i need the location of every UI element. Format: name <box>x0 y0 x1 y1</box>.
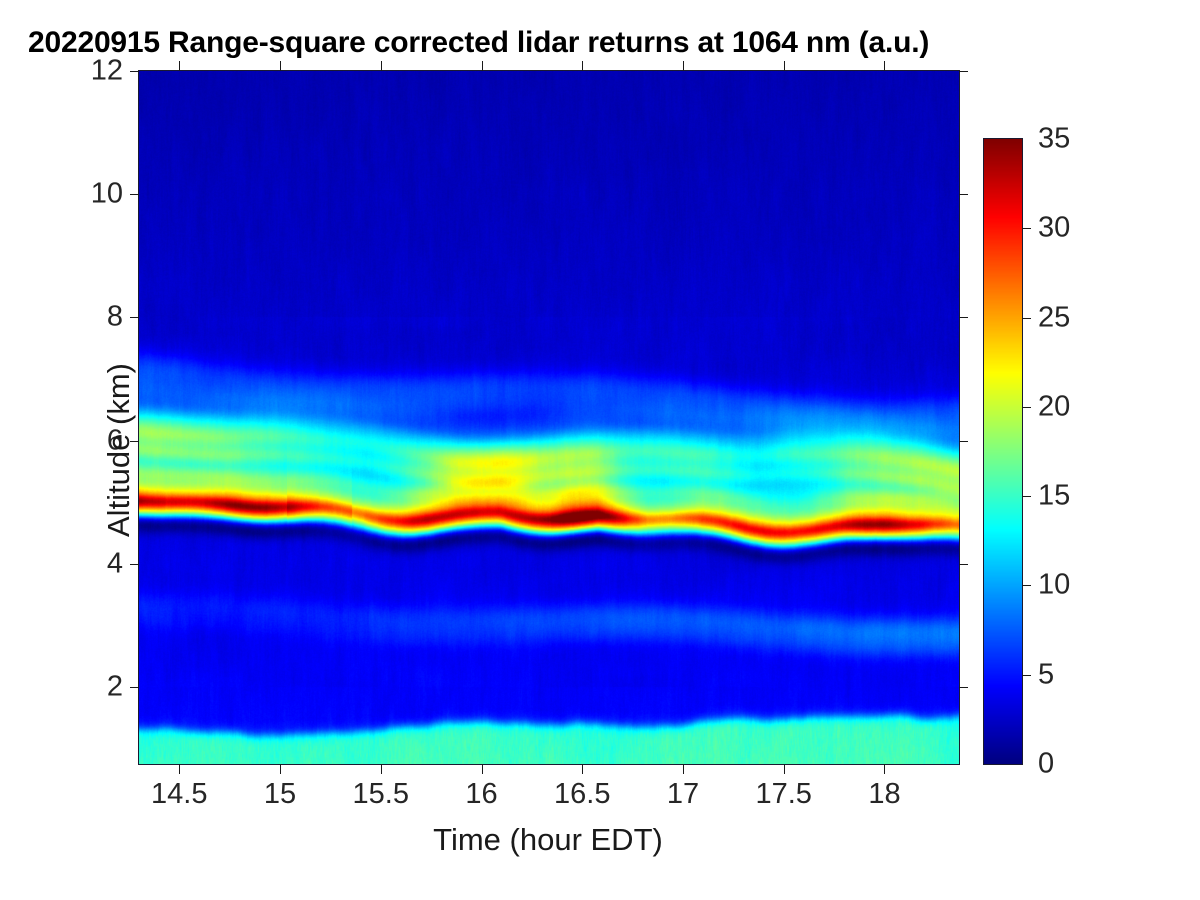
lidar-quicklook-figure: 20220915 Range-square corrected lidar re… <box>0 0 1200 900</box>
y-axis-label: Altitude (km) <box>101 363 137 537</box>
colorbar-gradient <box>984 139 1022 764</box>
x-axis-tick-mark-top <box>582 61 583 71</box>
x-axis-tick-mark-top <box>784 61 785 71</box>
colorbar-tick-label: 10 <box>1038 569 1070 602</box>
x-axis-tick-mark <box>179 764 180 774</box>
x-axis-tick-label: 17.5 <box>755 778 811 811</box>
colorbar-tick-mark <box>1022 318 1031 319</box>
y-axis-tick-label: 4 <box>107 547 123 580</box>
y-axis-tick-label: 2 <box>107 671 123 704</box>
colorbar-tick-mark <box>1022 496 1031 497</box>
page-title: 20220915 Range-square corrected lidar re… <box>28 26 929 60</box>
x-axis-tick-label: 16.5 <box>554 778 610 811</box>
x-axis-tick-mark-top <box>482 61 483 71</box>
y-axis-tick-mark <box>130 194 139 195</box>
y-axis-tick-label: 8 <box>107 301 123 334</box>
colorbar-tick-mark <box>1022 675 1031 676</box>
y-axis-tick-mark-right <box>959 317 968 318</box>
y-axis-tick-mark-right <box>959 564 968 565</box>
x-axis-tick-mark <box>683 764 684 774</box>
x-axis-tick-label: 18 <box>868 778 900 811</box>
y-axis-tick-label: 10 <box>91 178 123 211</box>
colorbar-tick-label: 0 <box>1038 748 1054 781</box>
colorbar-tick-label: 35 <box>1038 123 1070 156</box>
colorbar-tick-mark <box>1022 407 1031 408</box>
colorbar-tick-label: 15 <box>1038 480 1070 513</box>
lidar-heatmap-canvas <box>139 71 959 764</box>
x-axis-tick-mark <box>784 764 785 774</box>
colorbar-tick-label: 25 <box>1038 301 1070 334</box>
x-axis-label: Time (hour EDT) <box>138 822 958 858</box>
x-axis-tick-mark <box>582 764 583 774</box>
y-axis-tick-mark-right <box>959 71 968 72</box>
x-axis-tick-mark-top <box>280 61 281 71</box>
colorbar-tick-label: 20 <box>1038 390 1070 423</box>
y-axis-tick-mark <box>130 564 139 565</box>
x-axis-tick-label: 16 <box>465 778 497 811</box>
x-axis-tick-label: 17 <box>667 778 699 811</box>
y-axis-tick-mark <box>130 317 139 318</box>
x-axis-tick-mark-top <box>179 61 180 71</box>
y-axis-tick-mark-right <box>959 687 968 688</box>
x-axis-tick-mark <box>884 764 885 774</box>
y-axis-tick-label: 12 <box>91 55 123 88</box>
x-axis-tick-mark <box>381 764 382 774</box>
colorbar-tick-label: 5 <box>1038 658 1054 691</box>
x-axis-tick-mark-top <box>683 61 684 71</box>
x-axis-tick-mark-top <box>381 61 382 71</box>
y-axis-tick-mark-right <box>959 441 968 442</box>
y-axis-tick-mark <box>130 687 139 688</box>
colorbar-tick-mark <box>1022 228 1031 229</box>
x-axis-tick-label: 14.5 <box>151 778 207 811</box>
heatmap-axes: 2468101214.51515.51616.51717.518 <box>138 70 960 765</box>
colorbar: 05101520253035 <box>983 138 1023 765</box>
y-axis-tick-mark-right <box>959 194 968 195</box>
colorbar-tick-mark <box>1022 585 1031 586</box>
x-axis-tick-label: 15.5 <box>353 778 409 811</box>
x-axis-tick-label: 15 <box>264 778 296 811</box>
colorbar-tick-label: 30 <box>1038 212 1070 245</box>
x-axis-tick-mark-top <box>884 61 885 71</box>
x-axis-tick-mark <box>482 764 483 774</box>
y-axis-tick-mark <box>130 71 139 72</box>
x-axis-tick-mark <box>280 764 281 774</box>
